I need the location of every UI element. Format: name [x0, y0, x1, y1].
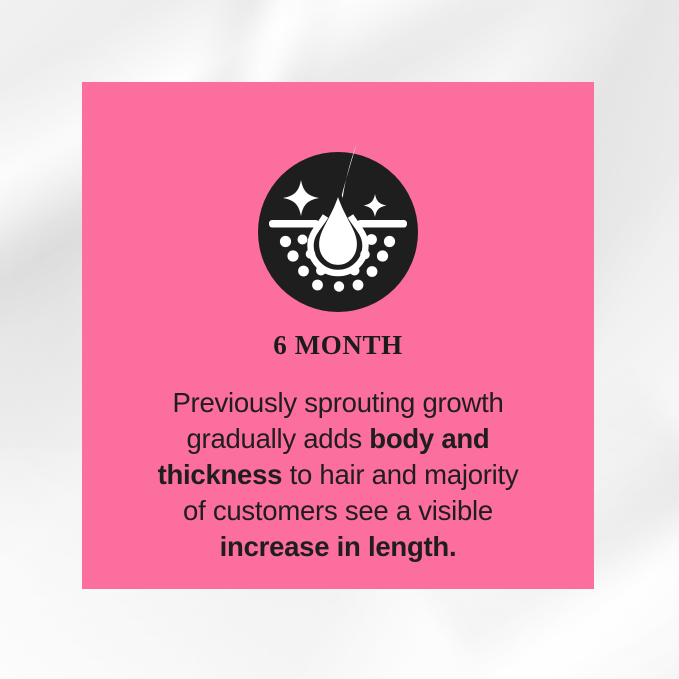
body-text-run-bold: thickness [158, 459, 283, 490]
body-text-run: Previously sprouting growth [172, 387, 503, 418]
page-title: 6 MONTH [82, 331, 594, 359]
body-line-4: of customers see a visible [110, 493, 566, 529]
body-text-run: of customers see a visible [183, 495, 493, 526]
card-body-text: Previously sprouting growth gradually ad… [110, 385, 566, 565]
body-text-run: to hair and majority [282, 459, 518, 490]
body-text-run: gradually adds [187, 423, 370, 454]
skin-line-right [357, 220, 407, 228]
body-line-2: gradually adds body and [110, 421, 566, 457]
body-line-3: thickness to hair and majority [110, 457, 566, 493]
body-line-5: increase in length. [110, 529, 566, 565]
skin-line-left [269, 220, 319, 228]
pink-info-card: 6 MONTH Previously sprouting growth grad… [82, 82, 594, 589]
body-text-run-bold: increase in length. [220, 531, 457, 562]
body-text-run-bold: body and [369, 423, 489, 454]
screenshot-stage: 6 MONTH Previously sprouting growth grad… [0, 0, 679, 679]
body-line-1: Previously sprouting growth [110, 385, 566, 421]
hair-follicle-icon [255, 146, 421, 312]
